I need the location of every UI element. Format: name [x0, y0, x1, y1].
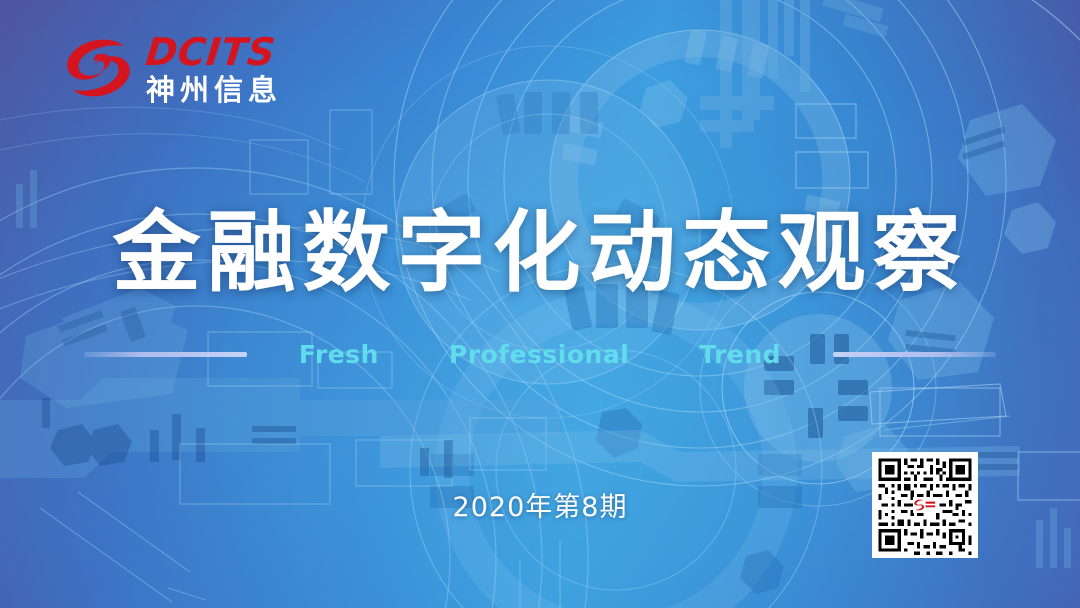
wechat-qr-code[interactable]: [872, 452, 978, 558]
logo-text-cn: 神州信息: [146, 76, 282, 105]
keyword-fresh: Fresh: [299, 340, 379, 369]
keyword-row: Fresh Professional Trend: [0, 340, 1080, 369]
divider-line-left: [84, 352, 247, 357]
qr-center-logo: [913, 497, 937, 513]
page-title: 金融数字化动态观察: [0, 182, 1080, 309]
poster-slide: DCITS 神州信息 金融数字化动态观察 Fresh Professional …: [0, 0, 1080, 608]
divider-line-right: [833, 352, 996, 357]
dcits-swirl-icon: [62, 34, 136, 104]
brand-logo: DCITS 神州信息: [62, 33, 282, 105]
keyword-trend: Trend: [699, 340, 781, 369]
keyword-professional: Professional: [449, 340, 629, 369]
logo-text-en: DCITS: [144, 33, 284, 71]
